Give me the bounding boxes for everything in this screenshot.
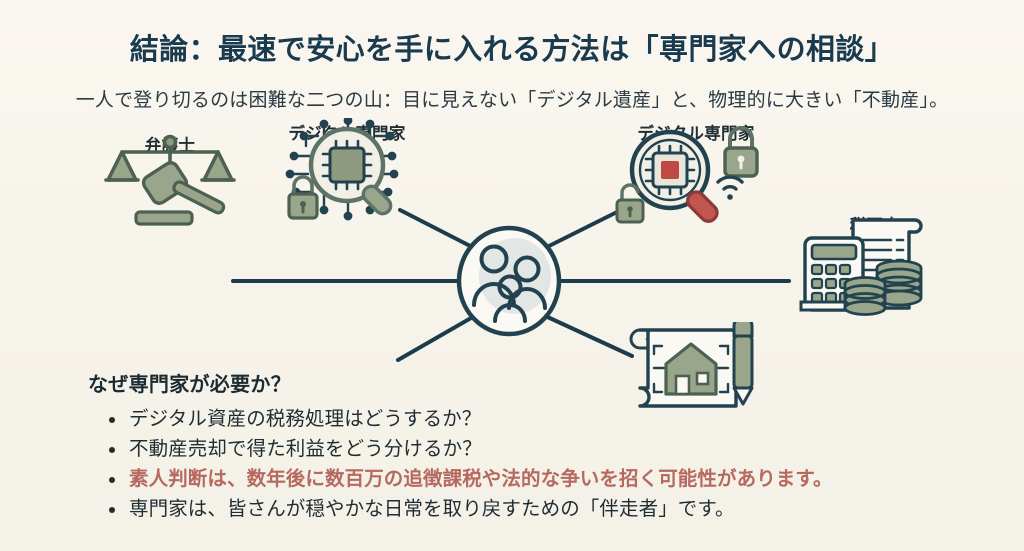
node-digital-right[interactable]: デジタル専門家 bbox=[608, 118, 784, 144]
list-item: デジタル資産の税務処理はどうするか？ bbox=[104, 404, 833, 434]
center-hub bbox=[459, 228, 559, 334]
node-lawyer[interactable]: 弁護士 bbox=[100, 130, 240, 156]
why-bullet-list: デジタル資産の税務処理はどうするか？ 不動産売却で得た利益をどう分けるか？ 素人… bbox=[104, 404, 833, 524]
padlock-icon bbox=[289, 177, 317, 218]
list-item: 不動産売却で得た利益をどう分けるか？ bbox=[104, 434, 833, 464]
list-item: 専門家は、皆さんが穏やかな日常を取り戻すための「伴走者」です。 bbox=[104, 494, 833, 524]
node-realestate[interactable]: 不動産専門家 bbox=[618, 322, 773, 348]
cpu-chip bbox=[330, 148, 364, 182]
node-tax[interactable]: 税理士 bbox=[795, 210, 955, 236]
page-subtitle: 一人で登り切るのは困難な二つの山：目に見えない「デジタル遺産」と、物理的に大きい… bbox=[0, 85, 1024, 112]
why-heading: なぜ専門家が必要か？ bbox=[88, 368, 291, 397]
page-title: 結論：最速で安心を手に入れる方法は「専門家への相談」 bbox=[0, 26, 1024, 68]
padlock-bottom-icon bbox=[617, 185, 643, 222]
chip-core bbox=[661, 161, 679, 179]
slide-root: 結論：最速で安心を手に入れる方法は「専門家への相談」 一人で登り切るのは困難な二… bbox=[0, 0, 1024, 551]
list-item: 素人判断は、数年後に数百万の追徴課税や法的な争いを招く可能性があります。 bbox=[104, 464, 833, 494]
magnifier-handle bbox=[684, 189, 720, 225]
padlock-top-icon bbox=[725, 128, 757, 176]
wifi-icon bbox=[718, 177, 742, 200]
node-digital-left[interactable]: デジタル専門家 bbox=[262, 118, 432, 144]
connector-down-left bbox=[398, 314, 478, 360]
pen-icon bbox=[734, 322, 752, 404]
